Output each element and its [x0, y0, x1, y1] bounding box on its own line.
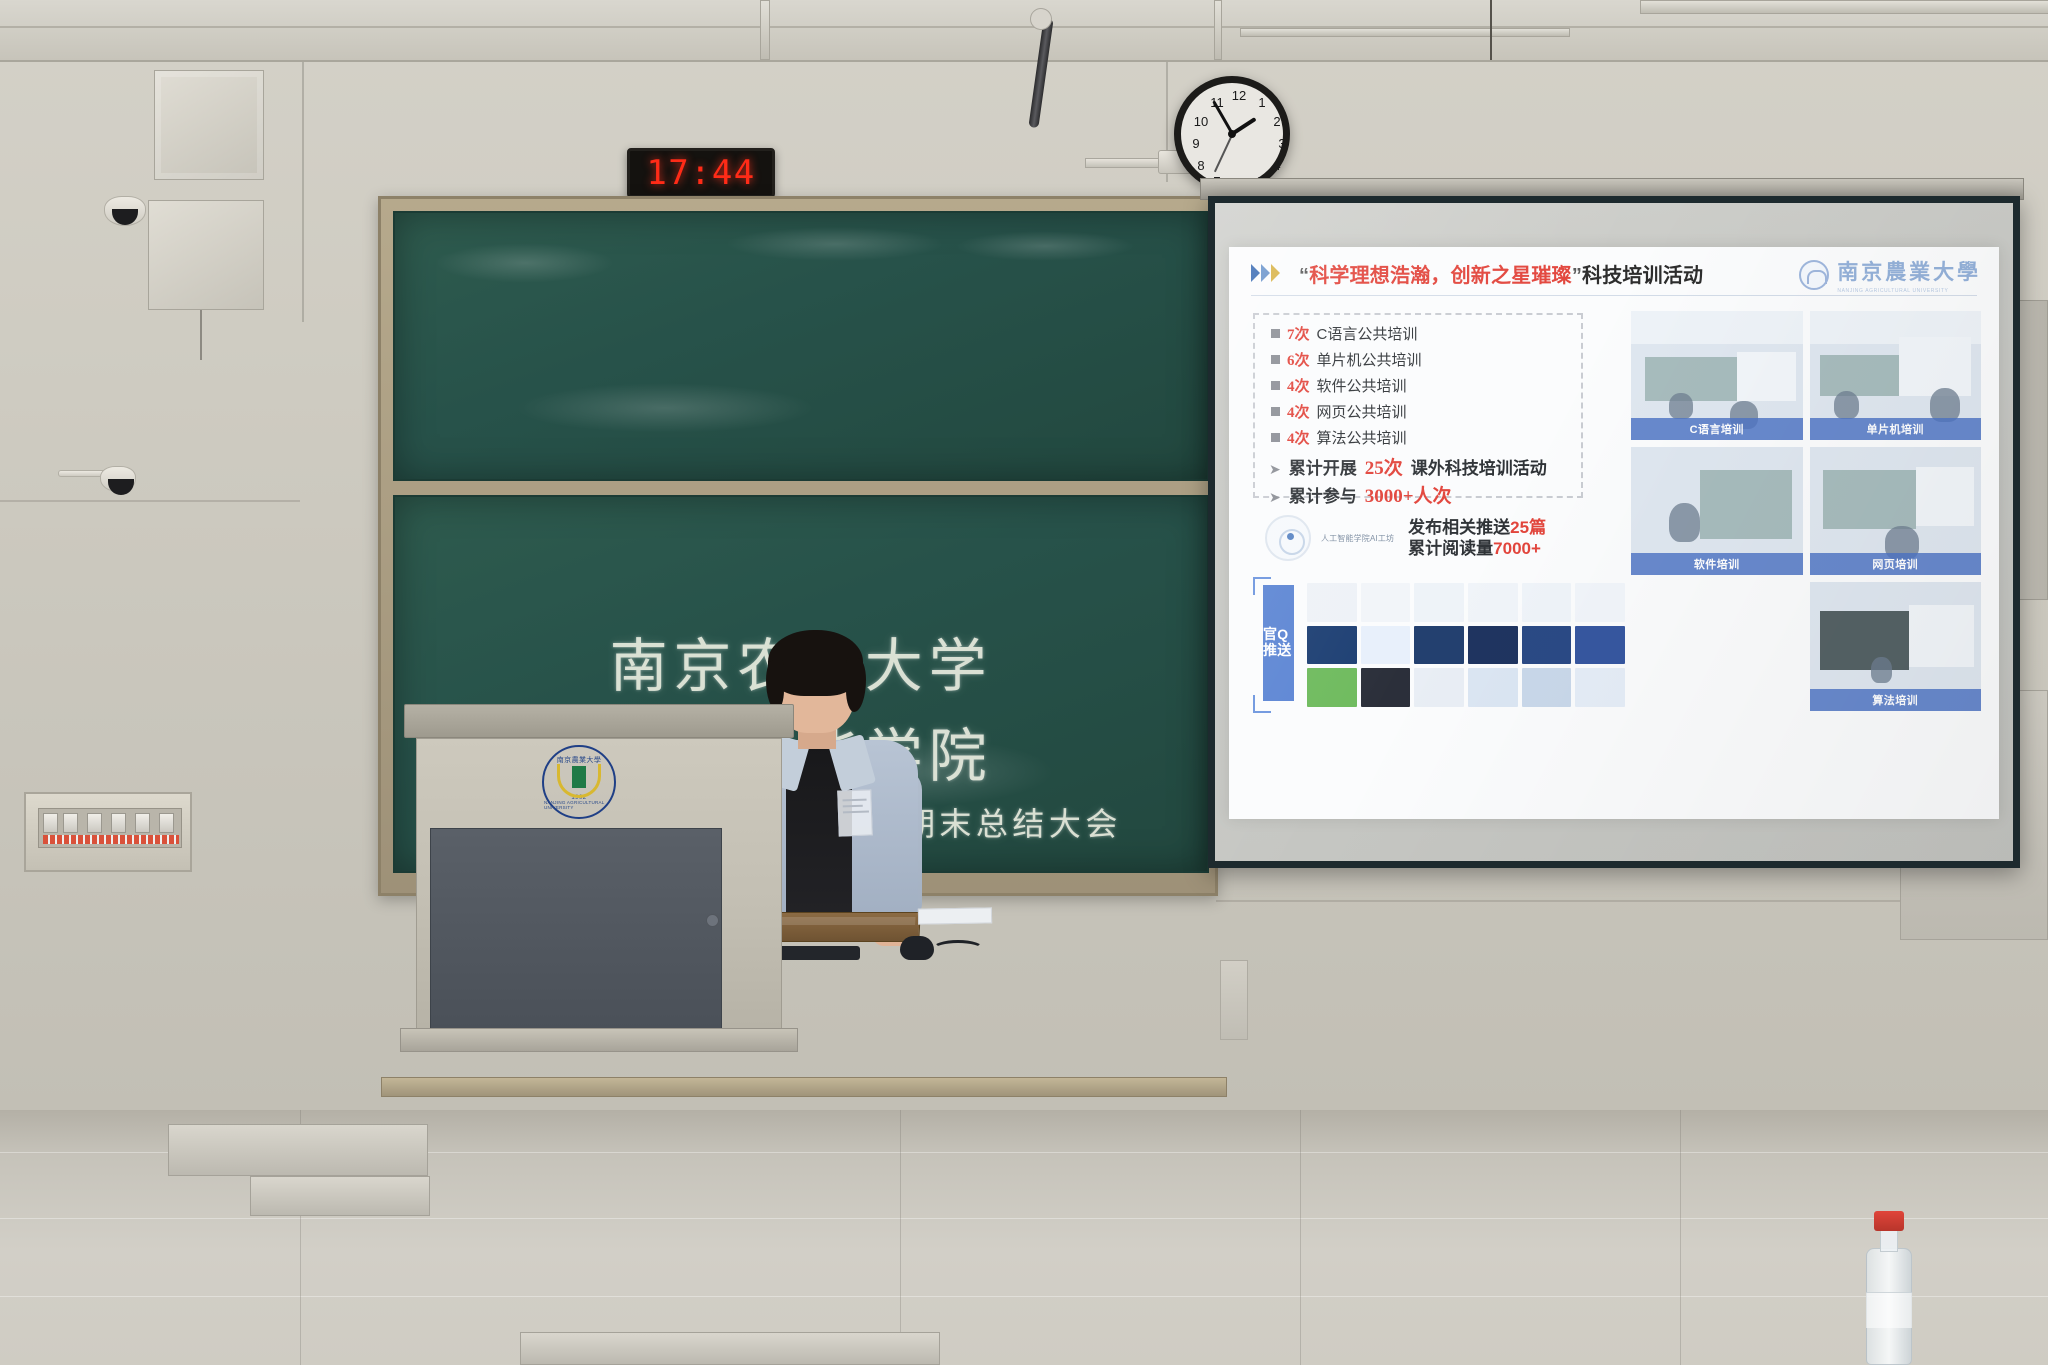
photo-caption: 单片机培训: [1810, 418, 1982, 440]
podium-front-panel: [430, 828, 722, 1034]
bullet-count: 4次: [1287, 427, 1310, 448]
photo-card: 网页培训: [1810, 447, 1982, 576]
photo-card: 算法培训: [1810, 582, 1982, 711]
push-line2-red: 7000+: [1493, 539, 1541, 558]
bullet-text: 软件公共培训: [1317, 375, 1407, 396]
summary-line: ➤ 累计开展 25次 课外科技培训活动: [1269, 453, 1547, 480]
clock-second-hand: [1214, 134, 1233, 173]
poster-tile: [1414, 583, 1464, 622]
chalk-smudge-3: [955, 231, 1135, 261]
wall-seam-h-left: [0, 500, 300, 502]
chalk-smudge-2: [725, 227, 945, 261]
poster-column: [1522, 583, 1572, 707]
bullet-count: 4次: [1287, 401, 1310, 422]
classroom-scene: 17:44 12 1 2 3 4 5 6 7 8 9 10 11 南京农业大学 …: [0, 0, 2048, 1365]
clock-numeral-9: 9: [1188, 137, 1204, 151]
wall-vent: [1220, 960, 1248, 1040]
poster-tile: [1361, 626, 1411, 665]
poster-column: [1361, 583, 1411, 707]
poster-tile: [1468, 668, 1518, 707]
screen-surface: “科学理想浩瀚，创新之星璀璨”科技培训活动 南京農業大學 NANJING AGR…: [1215, 203, 2013, 861]
ceiling-beam-2: [1214, 0, 1222, 60]
slide-header: “科学理想浩瀚，创新之星璀璨”科技培训活动 南京農業大學 NANJING AGR…: [1229, 247, 1999, 301]
photo-blackboard: [1820, 355, 1909, 396]
chalk-smudge-1: [435, 243, 615, 283]
poster-column: [1307, 583, 1357, 707]
dome-camera-left: [104, 196, 146, 226]
photo-blackboard: [1645, 357, 1751, 401]
arrow-icon: ➤: [1269, 461, 1281, 478]
training-photo-grid: C语言培训 单片机培训 软件培训: [1631, 311, 1981, 711]
water-bottle-label: [1866, 1292, 1912, 1328]
presenter-badge: [837, 789, 873, 836]
poster-tile: [1468, 626, 1518, 665]
slide-title-rest: 科技培训活动: [1582, 265, 1703, 287]
photo-projection: [1909, 605, 1974, 667]
slide-title-quote-close: ”: [1572, 265, 1582, 287]
clock-numeral-8: 8: [1193, 159, 1209, 173]
bullet-count: 7次: [1287, 323, 1310, 344]
clock-numeral-12: 12: [1231, 89, 1247, 103]
breaker-2: [63, 813, 78, 833]
ceiling-seam: [0, 26, 2048, 28]
photo-card: 单片机培训: [1810, 311, 1982, 440]
clock-numeral-10: 10: [1193, 115, 1209, 129]
summary-post: 课外科技培训活动: [1411, 454, 1547, 479]
photo-caption: 软件培训: [1631, 553, 1803, 575]
floor-grout-line-v: [1300, 1110, 1301, 1365]
photo-person: [1834, 391, 1860, 419]
projector-cable: [1490, 0, 1492, 60]
push-stats: 发布相关推送25篇 累计阅读量7000+: [1408, 517, 1546, 560]
ceiling-beam-1: [760, 0, 770, 60]
push-line1-red: 25篇: [1510, 518, 1546, 537]
poster-column: [1575, 583, 1625, 707]
photo-blackboard: [1823, 470, 1916, 529]
photo-person: [1669, 503, 1700, 542]
photo-person: [1930, 388, 1961, 421]
push-stat-line-2: 累计阅读量7000+: [1408, 538, 1546, 559]
university-logo: 南京農業大學 NANJING AGRICULTURAL UNIVERSITY: [1799, 256, 1981, 294]
photo-projection: [1737, 352, 1795, 401]
water-bottle-cap: [1874, 1211, 1904, 1231]
bullet-count: 4次: [1287, 375, 1310, 396]
university-seal-icon: [1799, 260, 1829, 290]
computer-mouse[interactable]: [900, 936, 934, 960]
mouse-cord: [932, 940, 984, 958]
breaker-1: [43, 813, 58, 833]
photo-blackboard: [1820, 611, 1909, 670]
poster-tile: [1361, 583, 1411, 622]
breaker-panel-inner: [38, 808, 182, 848]
photo-ceiling: [1631, 311, 1803, 344]
poster-tile: [1307, 626, 1357, 665]
poster-tile: [1414, 668, 1464, 707]
photo-person: [1669, 393, 1693, 419]
platform-step-left: [168, 1124, 428, 1176]
poster-tile: [1468, 583, 1518, 622]
ai-workshop-label: 人工智能学院AI工坊: [1321, 533, 1394, 544]
wall-equipment-box-upper: [154, 70, 264, 180]
poster-tile: [1575, 668, 1625, 707]
poster-strip: [1307, 583, 1625, 707]
ai-workshop-logo-icon: [1265, 515, 1311, 561]
breaker-6: [159, 813, 174, 833]
bullet-count: 6次: [1287, 349, 1310, 370]
electrical-panel: [24, 792, 192, 872]
floor-grout-line: [0, 1218, 2048, 1219]
photo-card: C语言培训: [1631, 311, 1803, 440]
bullet-square-icon: [1271, 381, 1280, 390]
breaker-4: [111, 813, 126, 833]
bullet-item: 7次 C语言公共培训: [1271, 323, 1417, 344]
bullet-text: 网页公共培训: [1317, 401, 1407, 422]
bullet-square-icon: [1271, 355, 1280, 364]
summary-pre: 累计参与: [1289, 482, 1357, 507]
poster-tile: [1522, 626, 1572, 665]
bullet-item: 4次 软件公共培训: [1271, 375, 1407, 396]
wall-equipment-box-lower: [148, 200, 264, 310]
bullet-text: 单片机公共培训: [1317, 349, 1422, 370]
official-q-push-badge: 官Q推送: [1263, 585, 1294, 701]
university-logo-name: 南京農業大學: [1837, 256, 1981, 286]
analog-wall-clock: 12 1 2 3 4 5 6 7 8 9 10 11: [1174, 76, 1290, 192]
bullet-item: 4次 网页公共培训: [1271, 401, 1407, 422]
equipment-cable: [200, 310, 202, 360]
arrow-icon: ➤: [1269, 489, 1281, 506]
summary-red: 25次: [1365, 453, 1403, 480]
water-bottle-neck: [1880, 1228, 1898, 1252]
presenter-hair-left: [766, 660, 784, 710]
platform-step-left-lower: [250, 1176, 430, 1216]
photo-blackboard: [1700, 470, 1793, 539]
digital-clock: 17:44: [627, 148, 775, 198]
photo-caption: 算法培训: [1810, 689, 1982, 711]
floor-grout-line-v: [900, 1110, 901, 1365]
poster-column: [1468, 583, 1518, 707]
chevron-triple-icon: [1251, 264, 1280, 282]
university-emblem: 南京農業大學 1902 NANJING AGRICULTURAL UNIVERS…: [542, 745, 616, 819]
keyboard: [769, 912, 921, 942]
photo-caption: 网页培训: [1810, 553, 1982, 575]
chalk-smudge-4: [515, 383, 815, 433]
emblem-tower-icon: [572, 766, 586, 788]
photo-card: 软件培训: [1631, 447, 1803, 576]
poster-tile: [1307, 668, 1357, 707]
bullet-square-icon: [1271, 329, 1280, 338]
poster-tile: [1307, 583, 1357, 622]
summary-line: ➤ 累计参与 3000+人次: [1269, 481, 1452, 508]
poster-tile: [1522, 583, 1572, 622]
photo-projection: [1916, 467, 1974, 526]
podium-desktop: [404, 704, 794, 738]
podium-knob: [706, 914, 719, 927]
photo-caption: C语言培训: [1631, 418, 1803, 440]
slide-title-highlight: 科学理想浩瀚，创新之星璀璨: [1309, 265, 1572, 287]
clock-numeral-1: 1: [1254, 96, 1270, 110]
bullet-item: 6次 单片机公共培训: [1271, 349, 1422, 370]
push-line1-pre: 发布相关推送: [1408, 518, 1510, 537]
poster-tile: [1575, 583, 1625, 622]
summary-red: 3000+人次: [1365, 481, 1452, 508]
bullet-text: C语言公共培训: [1317, 323, 1418, 344]
photo-person: [1871, 657, 1892, 683]
chalk-tray: [381, 1077, 1227, 1097]
smartphone: [778, 946, 860, 960]
podium-base: [400, 1028, 798, 1052]
bullet-square-icon: [1271, 407, 1280, 416]
poster-column: [1414, 583, 1464, 707]
paper-sheet: [918, 907, 992, 924]
university-logo-subtitle: NANJING AGRICULTURAL UNIVERSITY: [1837, 288, 1981, 294]
slide-header-rule: [1251, 295, 1977, 296]
breaker-3: [87, 813, 102, 833]
push-line2-pre: 累计阅读量: [1408, 539, 1493, 558]
terminal-strip: [43, 835, 179, 844]
presentation-slide: “科学理想浩瀚，创新之星璀璨”科技培训活动 南京農業大學 NANJING AGR…: [1229, 247, 1999, 819]
ai-workshop-block: 人工智能学院AI工坊 发布相关推送25篇 累计阅读量7000+: [1265, 515, 1546, 561]
clock-numeral-2: 2: [1269, 115, 1285, 129]
emblem-wreath-icon: [557, 764, 601, 798]
bullet-square-icon: [1271, 433, 1280, 442]
clock-numeral-4: 4: [1269, 159, 1285, 173]
poster-tile: [1522, 668, 1572, 707]
wall-seam-left: [302, 62, 304, 322]
poster-tile: [1575, 626, 1625, 665]
summary-pre: 累计开展: [1289, 454, 1357, 479]
platform-step-front: [520, 1332, 940, 1365]
projection-screen: “科学理想浩瀚，创新之星璀璨”科技培训活动 南京農業大學 NANJING AGR…: [1208, 196, 2020, 868]
bullet-text: 算法公共培训: [1317, 427, 1407, 448]
clock-pivot: [1228, 130, 1236, 138]
dome-camera-left-lower: [100, 466, 136, 492]
slide-title-quote-open: “: [1299, 265, 1309, 287]
photo-projection: [1899, 337, 1971, 396]
blackboard-upper-panel: [393, 211, 1209, 481]
ceiling-beam-4: [1240, 28, 1570, 37]
emblem-bottom-text: NANJING AGRICULTURAL UNIVERSITY: [544, 800, 614, 810]
push-stat-line-1: 发布相关推送25篇: [1408, 517, 1546, 538]
poster-tile: [1414, 626, 1464, 665]
slide-title: “科学理想浩瀚，创新之星璀璨”科技培训活动: [1299, 259, 1703, 288]
floor-grout-line-v: [1680, 1110, 1681, 1365]
poster-tile: [1361, 668, 1411, 707]
breaker-5: [135, 813, 150, 833]
floor-grout-line: [0, 1296, 2048, 1297]
digital-clock-time: 17:44: [646, 153, 755, 193]
wall-seam-h-right: [1216, 900, 1916, 902]
bullet-item: 4次 算法公共培训: [1271, 427, 1407, 448]
ceiling-beam-3: [1640, 0, 2048, 14]
clock-numeral-3: 3: [1274, 137, 1290, 151]
